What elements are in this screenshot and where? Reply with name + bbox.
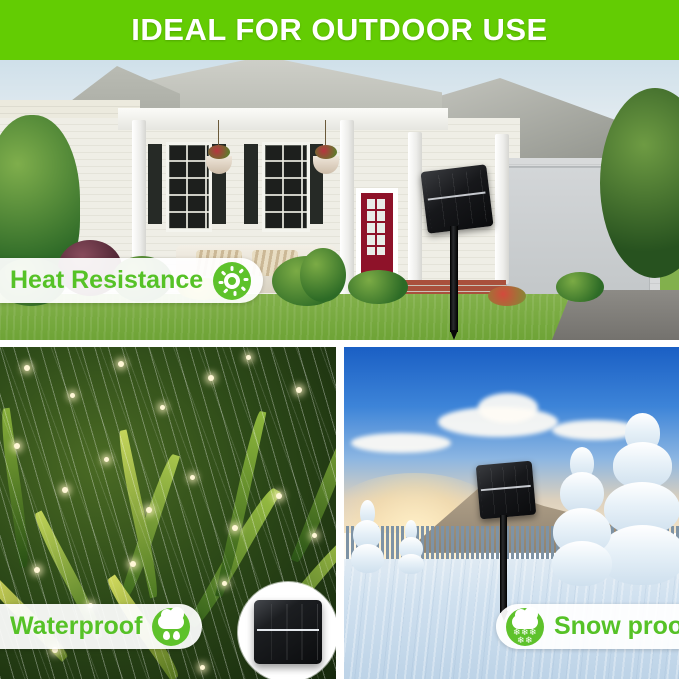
waterproof-label: Waterproof xyxy=(0,604,202,649)
snow-proof-text: Snow proof xyxy=(554,612,679,641)
cloud-shape xyxy=(512,615,538,629)
string-light xyxy=(34,567,40,573)
solar-panel-head xyxy=(420,164,493,234)
header-banner: IDEAL FOR OUTDOOR USE xyxy=(0,0,679,60)
solar-panel-product-image xyxy=(254,600,322,664)
string-light xyxy=(118,361,124,367)
shrub xyxy=(348,270,408,304)
window-shutter xyxy=(148,144,162,224)
snowy-pine-tree xyxy=(351,500,385,573)
shrub xyxy=(556,272,604,302)
raindrop xyxy=(173,631,180,640)
house-exterior-photo: Heat Resistance xyxy=(0,60,679,340)
cloud-shape xyxy=(158,615,184,629)
sun-icon xyxy=(213,262,251,300)
banner-title: IDEAL FOR OUTDOOR USE xyxy=(131,12,547,48)
string-light xyxy=(24,365,30,371)
string-light xyxy=(208,375,214,381)
string-light xyxy=(130,561,136,567)
waterproof-text: Waterproof xyxy=(10,612,142,641)
ground-stake-pole xyxy=(500,515,507,613)
porch-column xyxy=(495,134,509,284)
snowflake: ❄ xyxy=(517,637,525,646)
stake-tip xyxy=(450,330,458,340)
red-front-door xyxy=(356,188,398,282)
snow-cloud-icon: ❄ ❄ ❄ ❄ ❄ xyxy=(506,608,544,646)
product-feature-graphic: IDEAL FOR OUTDOOR USE xyxy=(0,0,679,679)
string-light xyxy=(14,443,20,449)
string-light xyxy=(222,581,227,586)
string-light xyxy=(246,355,251,360)
heat-resistance-label: Heat Resistance xyxy=(0,258,263,303)
string-light xyxy=(62,487,68,493)
string-light xyxy=(200,665,205,670)
sun-core xyxy=(224,273,240,289)
snowy-pine-tree xyxy=(552,447,612,586)
flower-bed xyxy=(488,286,526,306)
rain-cloud-icon xyxy=(152,608,190,646)
string-light xyxy=(146,507,152,513)
snow-proof-label: ❄ ❄ ❄ ❄ ❄ Snow proof xyxy=(496,604,679,649)
string-light xyxy=(232,525,238,531)
string-light xyxy=(276,493,282,499)
solar-panel-product-inset xyxy=(238,582,338,679)
string-light xyxy=(104,457,109,462)
heat-resistance-text: Heat Resistance xyxy=(10,266,203,295)
string-light xyxy=(190,475,195,480)
string-light xyxy=(296,387,302,393)
string-light xyxy=(70,393,75,398)
window-shutter xyxy=(244,144,258,224)
string-light xyxy=(312,533,317,538)
solar-panel-head xyxy=(476,461,536,520)
snowflake: ❄ xyxy=(525,637,533,646)
porch-window xyxy=(262,142,310,232)
raindrop xyxy=(163,631,170,640)
porch-roof-beam xyxy=(118,108,448,130)
basket-hook xyxy=(325,120,326,146)
ground-stake-pole xyxy=(450,226,458,332)
snowy-pine-tree xyxy=(398,520,425,573)
porch-column xyxy=(408,132,422,292)
shrub xyxy=(300,248,346,302)
string-light xyxy=(160,405,165,410)
basket-hook xyxy=(218,120,219,146)
